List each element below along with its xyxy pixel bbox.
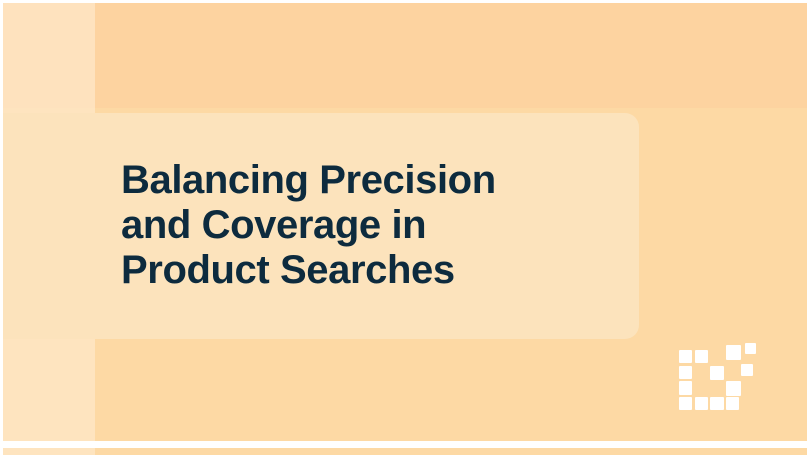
logo-cell <box>741 364 753 376</box>
logo-cell <box>695 397 708 410</box>
logo-cell <box>679 397 692 410</box>
slide-title-line-2: and Coverage in <box>121 203 621 248</box>
title-slide: Balancing Precision and Coverage in Prod… <box>3 3 807 441</box>
slide-title: Balancing Precision and Coverage in Prod… <box>121 158 621 292</box>
logo-cell <box>726 345 741 360</box>
logo-cell <box>695 350 708 363</box>
logo-cell <box>745 343 756 354</box>
logo-cell <box>726 381 741 396</box>
logo-cell <box>679 366 692 379</box>
logo-cell <box>726 397 739 410</box>
qr-code-logo-icon <box>679 350 757 412</box>
next-slide-left-band <box>3 448 95 455</box>
logo-cell <box>710 366 724 380</box>
slide-separator <box>0 441 810 448</box>
logo-cell <box>710 397 723 410</box>
next-slide-preview <box>3 448 807 455</box>
slide-title-line-1: Balancing Precision <box>121 158 621 203</box>
slide-title-line-3: Product Searches <box>121 248 621 293</box>
logo-cell <box>679 350 692 363</box>
slide-deck: Balancing Precision and Coverage in Prod… <box>0 0 810 455</box>
logo-cell <box>679 381 692 394</box>
decorative-top-band <box>3 3 807 108</box>
